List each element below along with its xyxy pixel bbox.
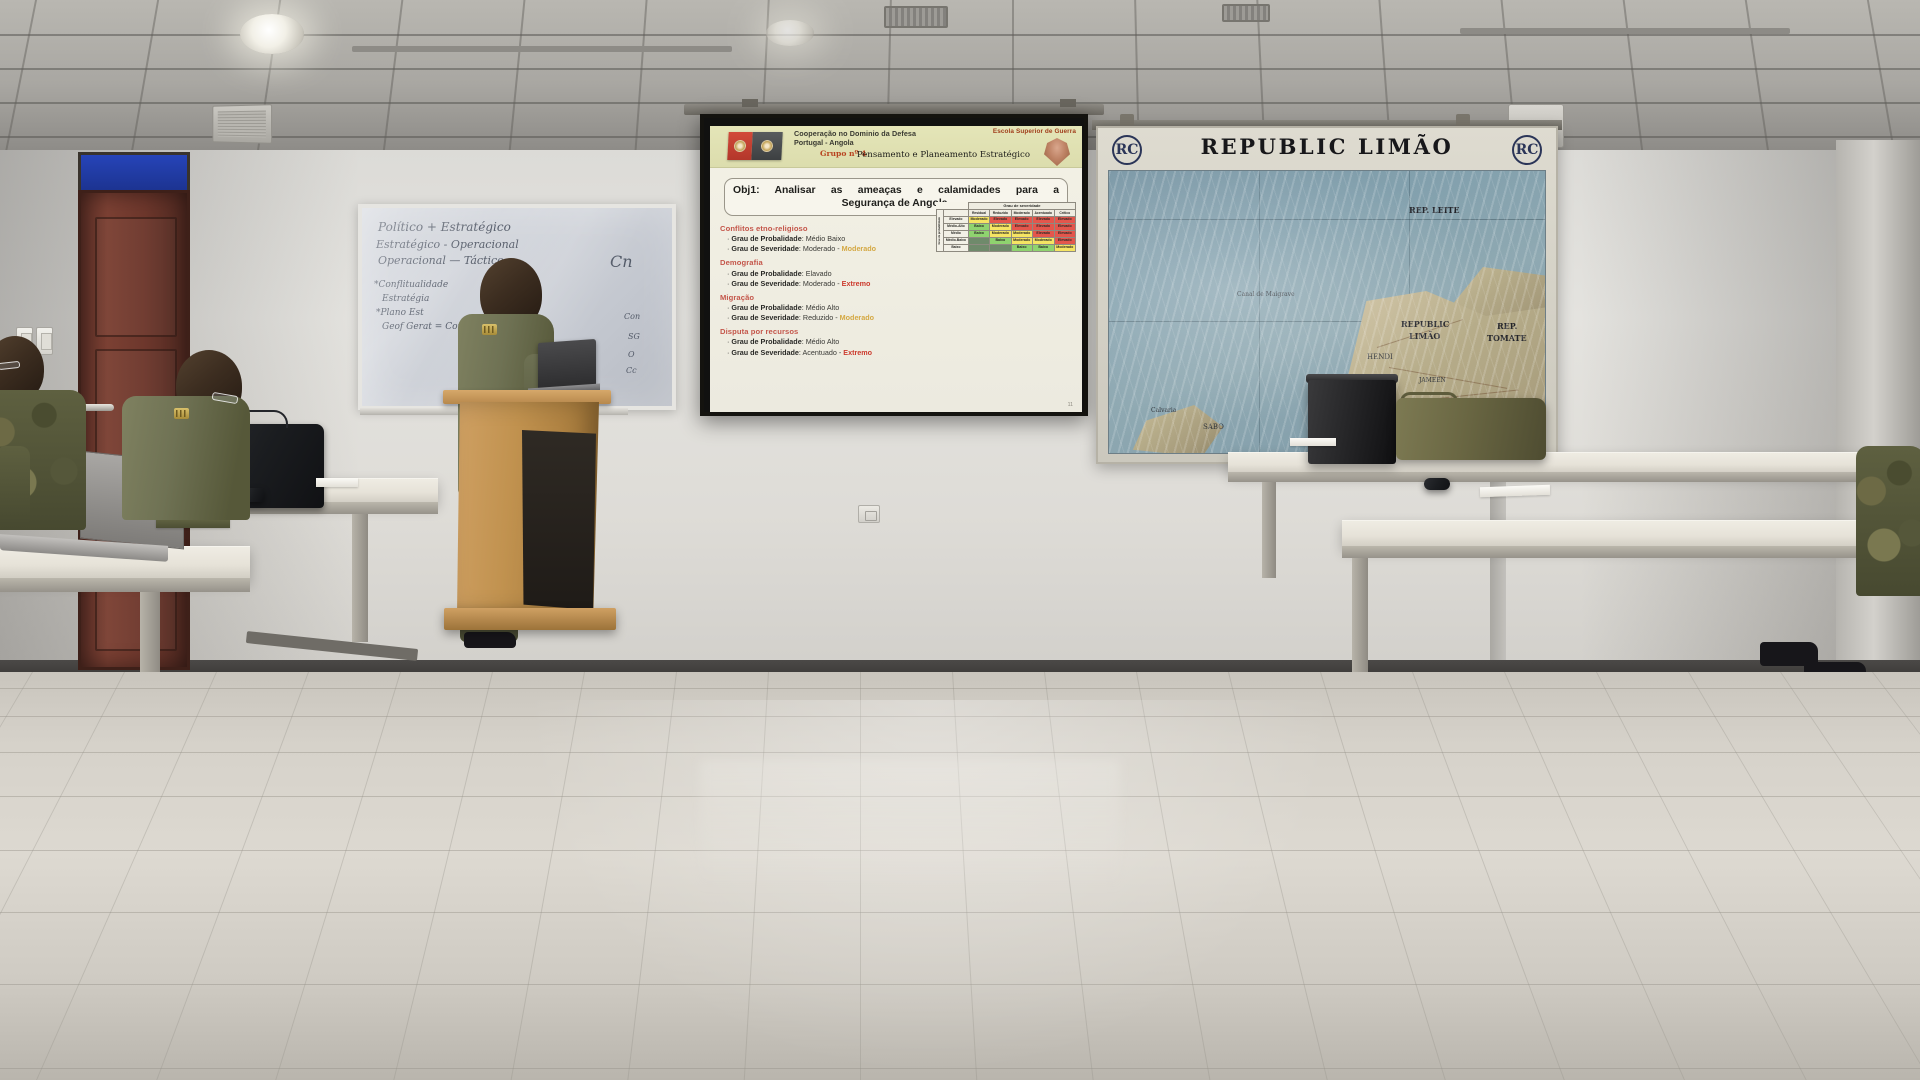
table-right-front-leg bbox=[1352, 558, 1368, 680]
matrix-cell-0-1: Elevado bbox=[990, 217, 1011, 224]
threat-probability-3: · Grau de Probalidade: Médio Alto bbox=[727, 337, 935, 346]
floor-tile-line-v bbox=[1780, 672, 1920, 1080]
floor-tile-line-v bbox=[1412, 672, 1565, 1080]
map-label-0: REP. LEITE bbox=[1409, 205, 1460, 215]
matrix-side-header: Grau de probabilidade bbox=[937, 210, 944, 252]
person-right-torso bbox=[1856, 446, 1920, 596]
ceiling-grid-line-v bbox=[383, 0, 404, 152]
matrix-cell-1-1: Moderado bbox=[990, 224, 1011, 231]
slide-header: Cooperação no Dominio da Defesa Portugal… bbox=[710, 126, 1082, 168]
matrix-cell-3-4: Elevado bbox=[1054, 238, 1075, 245]
person-right-partial bbox=[1856, 446, 1920, 676]
matrix-col-header-1: Reduzido bbox=[990, 210, 1011, 217]
matrix-cell-3-1: Baixo bbox=[990, 238, 1011, 245]
slide-objective-line1: Obj1: Analisar as ameaças e calamidades … bbox=[733, 185, 1059, 196]
table-right-back-leg bbox=[1262, 482, 1276, 578]
matrix-cell-1-3: Elevado bbox=[1032, 224, 1054, 231]
matrix-row-header-3: Médio-Baixo bbox=[944, 238, 969, 245]
matrix-cell-1-2: Elevado bbox=[1011, 224, 1032, 231]
map-label-2: LIMÃO bbox=[1409, 331, 1440, 341]
matrix-cell-2-2: Moderado bbox=[1011, 231, 1032, 238]
threat-title-3: Disputa por recursos bbox=[720, 327, 935, 336]
threat-severity-3: · Grau de Severidade: Acentuado - Extrem… bbox=[727, 348, 935, 357]
ceiling-vent-2 bbox=[1222, 4, 1270, 22]
floor-tile-line-v bbox=[275, 672, 401, 1080]
map-label-7: Calvaria bbox=[1151, 407, 1176, 414]
wall-outlet bbox=[858, 505, 880, 523]
matrix-row-header-1: Médio-Alto bbox=[944, 224, 969, 231]
threat-title-0: Conflitos etno-religioso bbox=[720, 224, 935, 233]
floor-tile-line-v bbox=[0, 672, 33, 1080]
presenter-rank-insignia bbox=[482, 324, 497, 335]
matrix-cell-4-3: Baixo bbox=[1032, 245, 1054, 252]
map-label-4: TOMATE bbox=[1487, 333, 1527, 343]
ceiling-grid-line-v bbox=[5, 0, 37, 152]
door-panel-top bbox=[95, 217, 177, 337]
matrix-cell-2-0: Baixo bbox=[968, 231, 989, 238]
podium-base bbox=[444, 608, 616, 630]
threat-severity-2: · Grau de Severidade: Reduzido - Moderad… bbox=[727, 313, 935, 322]
ceiling-grid-line-v bbox=[1745, 0, 1769, 152]
matrix-cell-2-3: Elevado bbox=[1032, 231, 1054, 238]
matrix-col-header-2: Moderado bbox=[1011, 210, 1032, 217]
classroom-scene: Político + EstratégicoEstratégico - Oper… bbox=[0, 0, 1920, 1080]
floor-tile-line bbox=[0, 912, 1920, 913]
floor-tile-line-v bbox=[627, 672, 677, 1080]
ceiling-grid-line-v bbox=[509, 0, 526, 152]
person-seated-uniform bbox=[118, 350, 278, 520]
threat-title-1: Demografia bbox=[720, 258, 935, 267]
threat-probability-0: · Grau de Probalidade: Médio Baixo bbox=[727, 234, 935, 243]
flag-emblem-left-icon bbox=[734, 140, 747, 152]
threat-probability-2: · Grau de Probalidade: Médio Alto bbox=[727, 303, 935, 312]
person-seated-camouflage bbox=[0, 336, 116, 526]
table-right-front-edge bbox=[1342, 546, 1920, 558]
threat-severity-1: · Grau de Severidade: Moderado - Extremo bbox=[727, 279, 935, 288]
flag-portugal-angola-icon bbox=[727, 132, 782, 160]
podium-front-panel bbox=[522, 430, 596, 610]
floor-tile-line-v bbox=[1320, 672, 1446, 1080]
papers-left-table[interactable] bbox=[316, 478, 358, 487]
floor-tile-line bbox=[0, 716, 1920, 717]
slide-page-number: 11 bbox=[1068, 402, 1073, 408]
map-label-5: HENDI bbox=[1367, 353, 1393, 361]
slide-body: Obj1: Analisar as ameaças e calamidades … bbox=[710, 168, 1082, 357]
floor-tile-line-v bbox=[511, 672, 585, 1080]
matrix-cell-3-2: Moderado bbox=[1011, 238, 1032, 245]
presentation-slide: Cooperação no Dominio da Defesa Portugal… bbox=[710, 126, 1082, 412]
floor-tile-line-v bbox=[1228, 672, 1328, 1080]
matrix-row-header-0: Elevado bbox=[944, 217, 969, 224]
matrix-cell-0-4: Elevado bbox=[1054, 217, 1075, 224]
floor-tile-line-v bbox=[393, 672, 493, 1080]
matrix-cell-3-0 bbox=[968, 238, 989, 245]
floor-tile-line-v bbox=[36, 672, 217, 1080]
risk-matrix-table: Grau de severidadeGrau de probabilidadeR… bbox=[936, 202, 1076, 252]
ceiling-vent-1 bbox=[884, 6, 948, 28]
flag-emblem-right-icon bbox=[761, 140, 774, 152]
flag-angola-half bbox=[751, 132, 783, 160]
ceiling-grid-line-v bbox=[1867, 0, 1895, 152]
matrix-row-header-4: Baixo bbox=[944, 245, 969, 252]
map-latitude-line-1 bbox=[1109, 219, 1545, 220]
projector-screen: Cooperação no Dominio da Defesa Portugal… bbox=[700, 114, 1088, 416]
flag-portugal-half bbox=[727, 132, 752, 160]
screen-mount-right bbox=[1060, 99, 1076, 107]
matrix-cell-3-3: Moderado bbox=[1032, 238, 1054, 245]
matrix-col-header-4: Crítico bbox=[1054, 210, 1075, 217]
matrix-cell-4-0 bbox=[968, 245, 989, 252]
table-right-front bbox=[1342, 520, 1920, 548]
person-seated-rank-insignia bbox=[174, 408, 189, 419]
map-longitude-line-1 bbox=[1259, 171, 1260, 453]
floor-tile-line bbox=[0, 688, 1920, 689]
map-label-9: JAMEEN bbox=[1419, 377, 1446, 384]
table-left-front-edge bbox=[0, 578, 250, 592]
matrix-top-header: Grau de severidade bbox=[968, 203, 1075, 210]
floor-reflection bbox=[700, 760, 1120, 890]
slide-header-institution: Escola Superior de Guerra bbox=[993, 128, 1076, 135]
matrix-cell-0-0: Moderado bbox=[968, 217, 989, 224]
ceiling-grid-line-v bbox=[131, 0, 159, 152]
threat-severity-0: · Grau de Severidade: Moderado - Moderad… bbox=[727, 244, 935, 253]
threat-probability-1: · Grau de Probalidade: Elavado bbox=[727, 269, 935, 278]
desktop-computer[interactable] bbox=[1308, 380, 1396, 464]
matrix-cell-1-4: Elevado bbox=[1054, 224, 1075, 231]
matrix-corner-blank bbox=[937, 203, 969, 210]
table-right-back-edge bbox=[1228, 472, 1920, 482]
floor-tile-line-v bbox=[156, 672, 309, 1080]
podium-top-surface bbox=[443, 390, 611, 404]
slide-threat-list: Conflitos etno-religioso· Grau de Probal… bbox=[720, 224, 935, 357]
matrix-cell-4-2: Baixo bbox=[1011, 245, 1032, 252]
matrix-cell-1-0: Baixo bbox=[968, 224, 989, 231]
map-label-3: REP. bbox=[1497, 321, 1517, 331]
matrix-col-header-0: Residual bbox=[968, 210, 989, 217]
presenter-shoe bbox=[464, 632, 516, 648]
map-label-1: REPUBLIC bbox=[1401, 319, 1449, 329]
matrix-cell-0-2: Elevado bbox=[1011, 217, 1032, 224]
matrix-cell-2-1: Moderado bbox=[990, 231, 1011, 238]
ceiling-grid-line-v bbox=[1623, 0, 1644, 152]
matrix-cell-0-3: Elevado bbox=[1032, 217, 1054, 224]
floor-tile-line bbox=[0, 752, 1920, 753]
matrix-rowhead-blank bbox=[944, 210, 969, 217]
screen-mount-left bbox=[742, 99, 758, 107]
ceiling-beam-2 bbox=[1460, 28, 1790, 34]
floor-tile-line-v bbox=[1872, 672, 1920, 1080]
floor-tile-line-v bbox=[1596, 672, 1807, 1080]
wall-speaker bbox=[212, 104, 272, 144]
matrix-cell-4-1 bbox=[990, 245, 1011, 252]
slide-header-line2: Portugal - Angola bbox=[794, 138, 854, 147]
school-crest-icon bbox=[1044, 138, 1070, 166]
floor-tile-line bbox=[0, 984, 1920, 985]
map-title: REPUBLIC LIMÃO bbox=[1098, 134, 1556, 159]
matrix-cell-2-4: Elevado bbox=[1054, 231, 1075, 238]
map-label-8: SABO bbox=[1203, 423, 1224, 431]
floor-tile-line-v bbox=[1688, 672, 1920, 1080]
matrix-row-header-2: Médio bbox=[944, 231, 969, 238]
ceiling-light-1 bbox=[240, 14, 304, 54]
object-right-table-small[interactable] bbox=[1424, 478, 1450, 490]
floor-tile-line-v bbox=[1136, 672, 1210, 1080]
map-label-6: Canal de Maigrave bbox=[1237, 291, 1295, 298]
threat-title-2: Migração bbox=[720, 293, 935, 302]
slide-header-course: Pensamento e Planeamento Estratégico bbox=[857, 150, 1030, 160]
floor-tile-line-v bbox=[1504, 672, 1685, 1080]
papers-right-table-2[interactable] bbox=[1290, 438, 1336, 446]
duffel-bag[interactable] bbox=[1396, 398, 1546, 460]
ceiling-beam-1 bbox=[352, 46, 732, 52]
slide-header-line1: Cooperação no Dominio da Defesa bbox=[794, 129, 916, 138]
person-camo-arm bbox=[0, 446, 30, 528]
table-left-back-leg bbox=[352, 514, 368, 642]
ceiling-grid-line-v bbox=[634, 0, 647, 152]
door-transom-window bbox=[78, 152, 190, 194]
matrix-cell-4-4: Moderado bbox=[1054, 245, 1075, 252]
floor-tile-line bbox=[0, 1068, 1920, 1069]
matrix-col-header-3: Acentuado bbox=[1032, 210, 1054, 217]
ceiling-light-2 bbox=[766, 20, 814, 46]
